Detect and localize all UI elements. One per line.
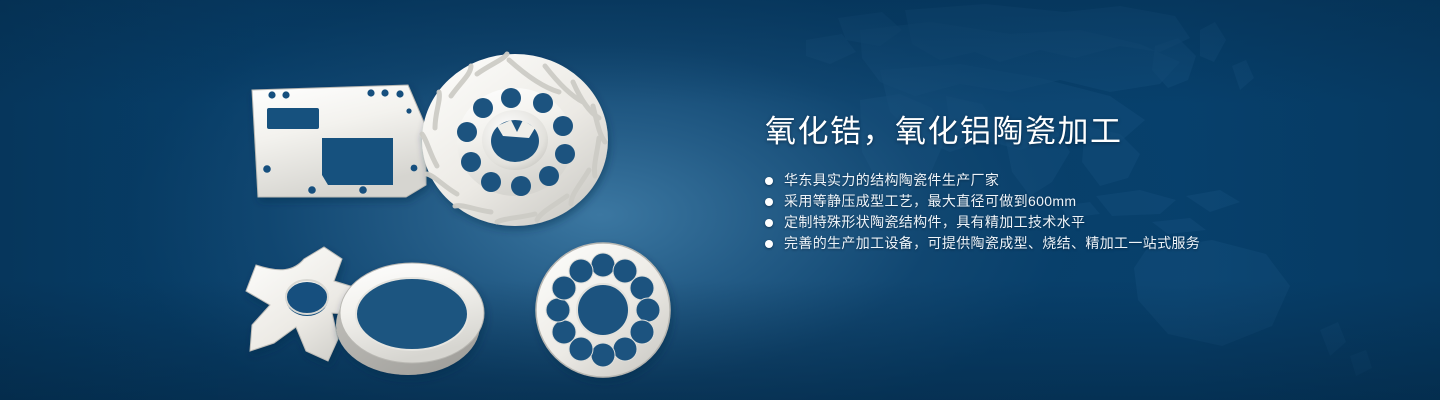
bullet-item-label: 采用等静压成型工艺，最大直径可做到600mm [784, 191, 1076, 212]
hero-banner: 氧化锆，氧化铝陶瓷加工 华东具实力的结构陶瓷件生产厂家 采用等静压成型工艺，最大… [0, 0, 1440, 400]
banner-copy: 氧化锆，氧化铝陶瓷加工 华东具实力的结构陶瓷件生产厂家 采用等静压成型工艺，最大… [765, 112, 1325, 254]
ceramic-impeller-part [422, 54, 608, 226]
ceramic-plate-part [252, 85, 426, 197]
bullet-item: 采用等静压成型工艺，最大直径可做到600mm [765, 191, 1325, 212]
ceramic-products-image [230, 45, 710, 390]
bullet-item: 华东具实力的结构陶瓷件生产厂家 [765, 170, 1325, 191]
bullet-dot-icon [765, 240, 773, 248]
bullet-item: 定制特殊形状陶瓷结构件，具有精加工技术水平 [765, 212, 1325, 233]
ceramic-perforated-disc-part [536, 243, 670, 377]
banner-bullet-list: 华东具实力的结构陶瓷件生产厂家 采用等静压成型工艺，最大直径可做到600mm 定… [765, 170, 1325, 254]
ceramic-ring-part [336, 263, 484, 375]
banner-headline: 氧化锆，氧化铝陶瓷加工 [765, 112, 1325, 152]
bullet-dot-icon [765, 198, 773, 206]
bullet-item-label: 完善的生产加工设备，可提供陶瓷成型、烧结、精加工一站式服务 [784, 233, 1200, 254]
bullet-item-label: 定制特殊形状陶瓷结构件，具有精加工技术水平 [784, 212, 1085, 233]
bullet-dot-icon [765, 177, 773, 185]
bullet-item: 完善的生产加工设备，可提供陶瓷成型、烧结、精加工一站式服务 [765, 233, 1325, 254]
bullet-item-label: 华东具实力的结构陶瓷件生产厂家 [784, 170, 999, 191]
bullet-dot-icon [765, 219, 773, 227]
